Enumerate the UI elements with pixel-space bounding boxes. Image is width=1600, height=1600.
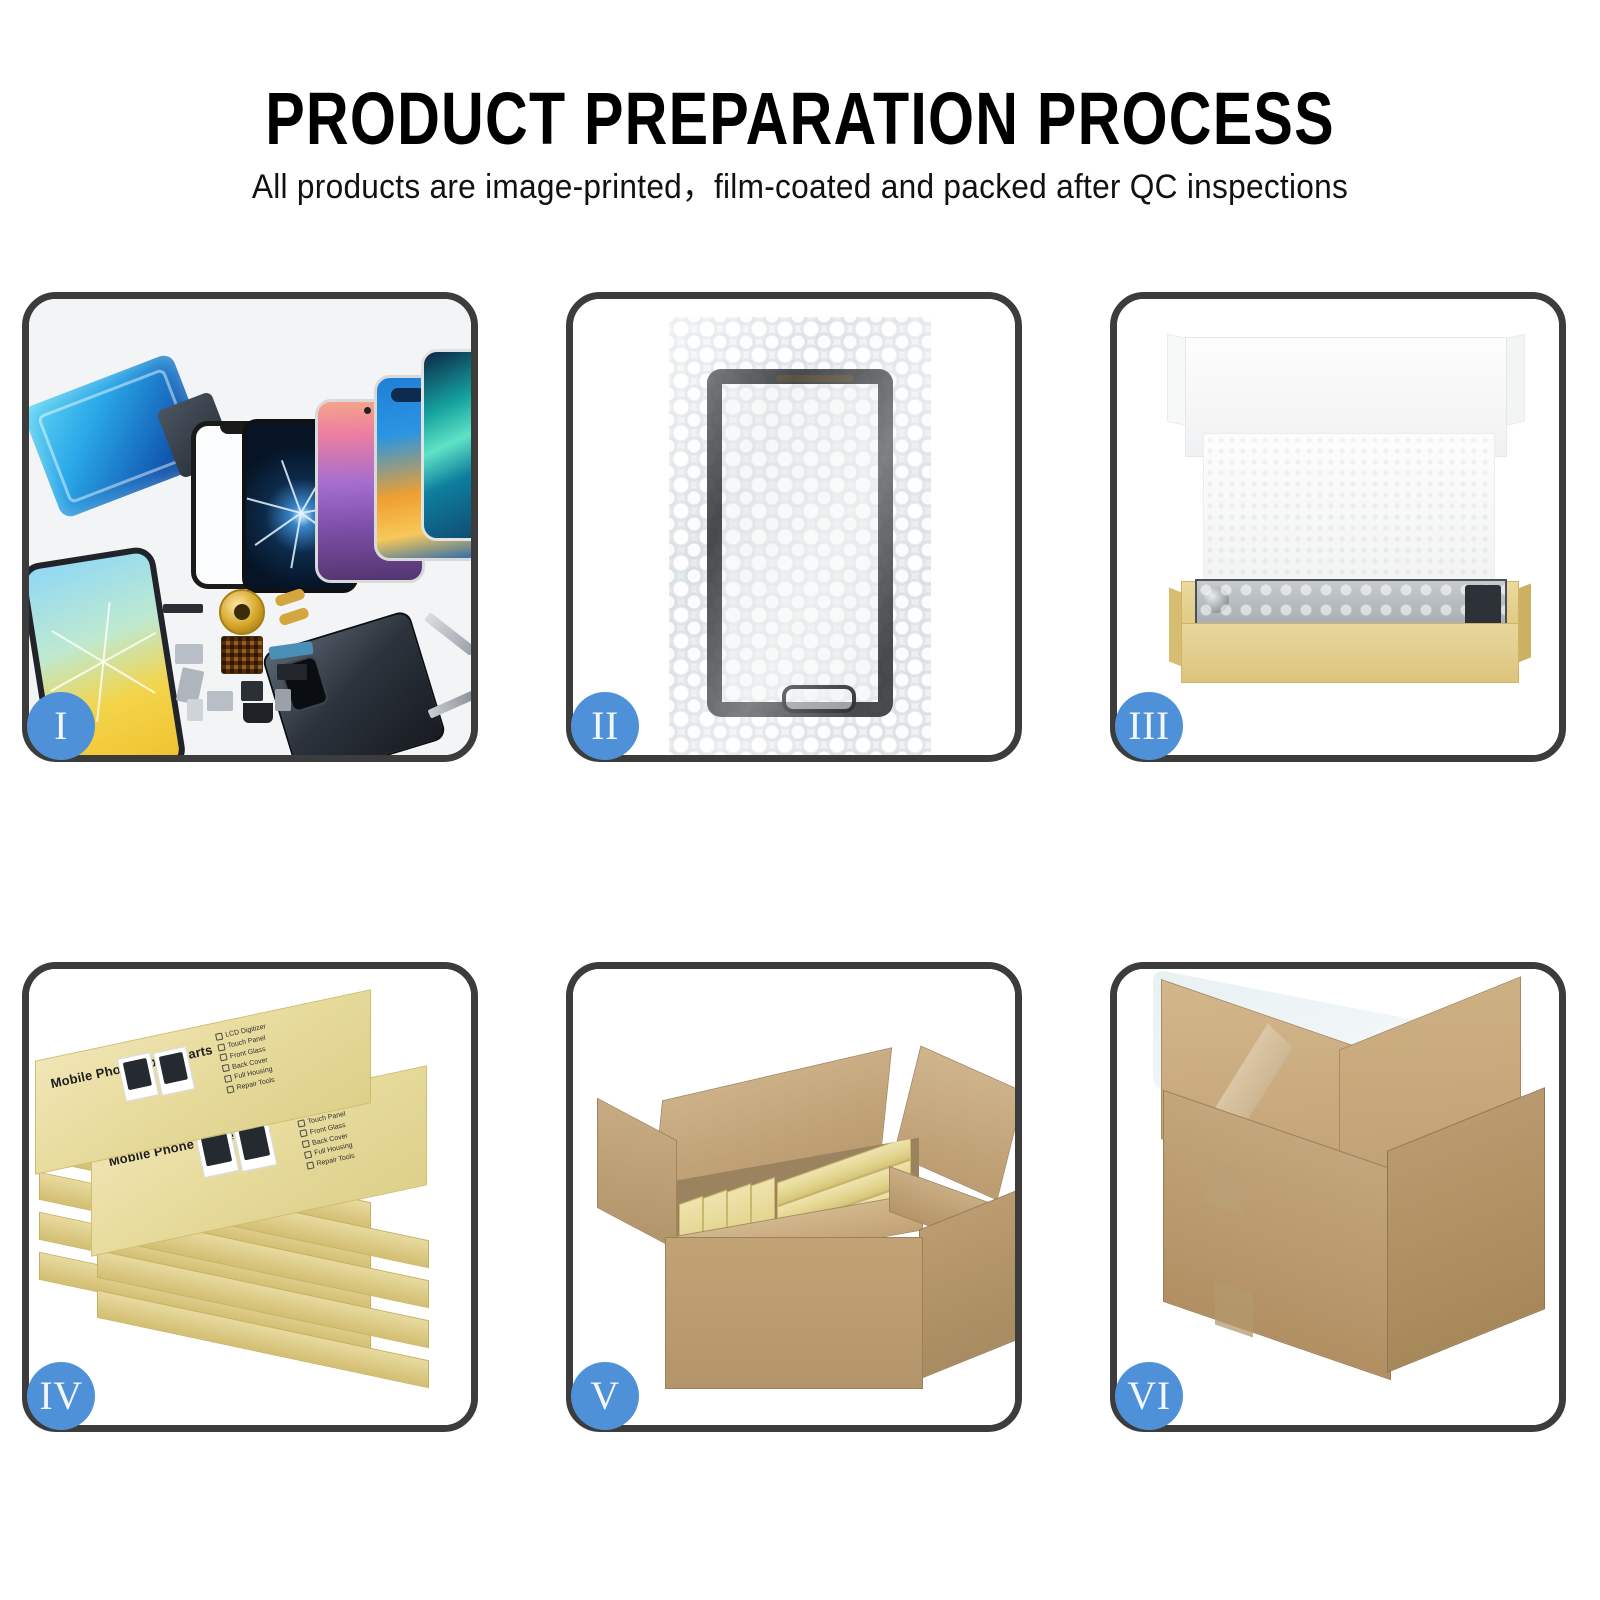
step-badge-6: VI [1115, 1362, 1183, 1430]
battery-connector-icon [277, 664, 307, 680]
panel-5-background [573, 969, 1015, 1425]
dual-punch-hole-icon [391, 388, 425, 402]
checkbox-icon [304, 1151, 312, 1159]
step-badge-3: III [1115, 692, 1183, 760]
step-2-image [573, 299, 1015, 755]
step-panel-6[interactable] [1110, 962, 1566, 1432]
step-5-image [573, 969, 1015, 1425]
step-3-image [1117, 299, 1559, 755]
step-panel-4[interactable]: Mobile Phone Spare Parts LCD Digitizer T… [22, 962, 478, 1432]
camera-module-icon [175, 644, 203, 664]
step-badge-1: I [27, 692, 95, 760]
step-panel-5[interactable] [566, 962, 1022, 1432]
step-badge-2: II [571, 692, 639, 760]
sim-pin-icon [187, 699, 203, 721]
step-panel-1[interactable]: 08:08 [22, 292, 478, 762]
panel-6-background [1117, 969, 1559, 1425]
checkbox-icon [306, 1161, 314, 1169]
ic-chip-icon [221, 636, 263, 674]
checkbox-icon [302, 1140, 310, 1148]
panel-3-background [1117, 299, 1559, 755]
plastic-sheen-overlay [669, 317, 931, 755]
checkbox-icon [299, 1129, 307, 1137]
sim-tray-icon [207, 691, 233, 711]
yellow-box-front-face [1181, 623, 1519, 683]
step-badge-5: V [571, 1362, 639, 1430]
checkbox-icon [297, 1119, 305, 1127]
checkbox-icon [226, 1085, 234, 1093]
checkbox-icon [224, 1075, 232, 1083]
checkbox-icon [222, 1064, 230, 1072]
step-6-image [1117, 969, 1559, 1425]
step-1-image: 08:08 [29, 299, 471, 755]
vibrator-motor-icon [241, 681, 263, 701]
wireless-charging-coil-icon [219, 589, 265, 635]
checkbox-icon [217, 1043, 225, 1051]
charging-port-icon [243, 703, 273, 723]
step-panel-3[interactable] [1110, 292, 1566, 762]
white-foam-padding-icon [1203, 433, 1495, 585]
loudspeaker-icon [275, 689, 291, 711]
carton-front-face [665, 1237, 923, 1389]
checkbox-icon [219, 1053, 227, 1061]
bubble-wrap-icon [669, 317, 931, 755]
step-badge-4: IV [27, 1362, 95, 1430]
checkbox-icon [215, 1032, 223, 1040]
process-step-grid: 08:08 [0, 0, 1600, 1600]
step-4-image: Mobile Phone Spare Parts LCD Digitizer T… [29, 969, 471, 1425]
teal-screen-phone-icon [421, 349, 471, 541]
step-panel-2[interactable] [566, 292, 1022, 762]
earpiece-speaker-icon [163, 604, 203, 613]
panel-4-background: Mobile Phone Spare Parts LCD Digitizer T… [29, 969, 471, 1425]
